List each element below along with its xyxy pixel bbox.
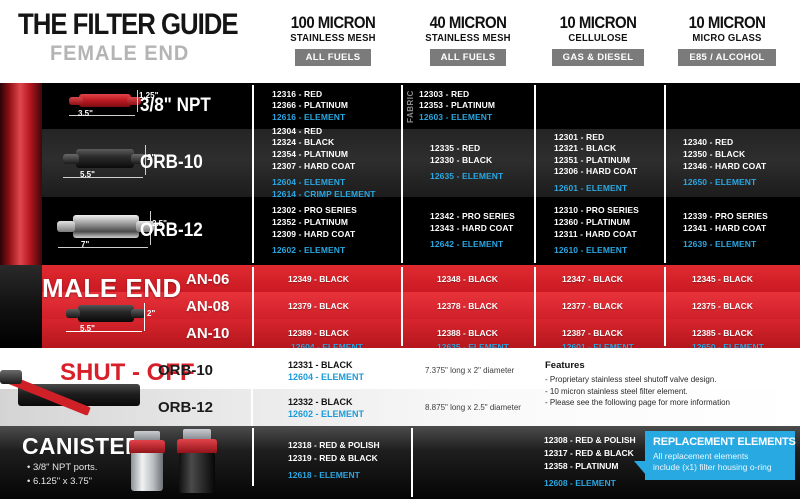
part-number: 12302 - PRO SERIES: [272, 205, 400, 217]
row-label-cell: ORB-10: [140, 129, 252, 197]
part-number: 12379 - BLACK: [288, 301, 349, 311]
part-number: 12345 - BLACK: [692, 274, 753, 284]
part-number: 12358 - PLATINUM: [544, 461, 618, 471]
part-number: 12350 - BLACK: [683, 149, 795, 161]
column-header-sub: MICRO GLASS: [661, 32, 794, 45]
column-divider: [534, 267, 536, 346]
dimension-line: [58, 247, 148, 248]
part-number: 12304 - RED: [272, 126, 400, 138]
part-cell-100-micron: 12304 - RED 12324 - BLACK 12354 - PLATIN…: [272, 129, 400, 197]
column-header-sub: STAINLESS MESH: [267, 32, 400, 45]
part-number: 12388 - BLACK: [437, 328, 498, 338]
shut-off-section: SHUT - OFF ORB-10 12331 - BLACK 12604 - …: [0, 352, 800, 426]
part-number: 12335 - RED: [430, 143, 540, 155]
canister-title: CANISTER: [22, 433, 142, 460]
column-divider: [252, 428, 254, 486]
part-number-element: 12604 - ELEMENT: [288, 372, 364, 382]
part-cell-10-micron-cellulose: 12310 - PRO SERIES 12360 - PLATINUM 1231…: [554, 197, 666, 265]
feature-item: - 10 micron stainless steel filter eleme…: [545, 386, 730, 398]
dimension-text: 8.875" long x 2.5" diameter: [425, 403, 521, 412]
column-header-main: 10 MICRON: [665, 14, 788, 31]
part-number: 12360 - PLATINUM: [554, 217, 666, 229]
part-number: 12375 - BLACK: [692, 301, 753, 311]
row-label-cell: ORB-12: [140, 197, 252, 265]
part-number-element: 12608 - ELEMENT: [544, 478, 616, 488]
features-block: Features - Proprietary stainless steel s…: [545, 360, 730, 409]
part-number: 12316 - RED: [272, 89, 400, 101]
part-number-element: 12618 - ELEMENT: [288, 470, 360, 480]
part-number: 12330 - BLACK: [430, 155, 540, 167]
part-number-element: 12610 - ELEMENT: [554, 245, 666, 257]
part-number: 12308 - RED & POLISH: [544, 435, 636, 445]
part-number: 12346 - HARD COAT: [683, 161, 795, 173]
callout-line2: include (x1) filter housing o-ring: [653, 462, 772, 473]
dimension-line: [63, 177, 143, 178]
shut-off-label-orb12: ORB-12: [158, 399, 213, 416]
part-number-element: 12604 - ELEMENT: [291, 342, 363, 348]
feature-item: - Proprietary stainless steel shutoff va…: [545, 374, 730, 386]
canister-bullet: • 6.125" x 3.75": [27, 476, 92, 487]
filter-guide-page: THE FILTER GUIDE FEMALE END 100 MICRON S…: [0, 0, 800, 499]
part-number-element: 12650 - ELEMENT: [683, 177, 795, 189]
part-number: 12366 - PLATINUM: [272, 100, 400, 112]
dimension-length: 3.5": [78, 109, 93, 118]
part-number: 12343 - HARD COAT: [430, 223, 540, 235]
part-cell-10-micron-micro-glass: 12339 - PRO SERIES 12341 - HARD COAT 126…: [683, 197, 795, 265]
row-orb10: 5.5" 2" ORB-10 12304 - RED 12324 - BLACK…: [0, 129, 800, 197]
callout-line1: All replacement elements: [653, 451, 748, 462]
column-divider: [664, 267, 666, 346]
column-divider: [252, 267, 254, 346]
column-header-main: 10 MICRON: [536, 14, 659, 31]
row-label-cell: 3/8" NPT: [140, 83, 252, 129]
part-number: 12318 - RED & POLISH: [288, 440, 380, 450]
part-number: 12340 - RED: [683, 137, 795, 149]
part-number: 12342 - PRO SERIES: [430, 211, 540, 223]
row-orb12: 7" 2.5" ORB-12 12302 - PRO SERIES 12352 …: [0, 197, 800, 265]
part-number: 12301 - RED: [554, 132, 666, 144]
column-header-40-micron: 40 MICRON STAINLESS MESH ALL FUELS: [398, 14, 538, 66]
dimension-length: 7": [81, 240, 89, 249]
part-number: 12324 - BLACK: [272, 137, 400, 149]
part-number: 12354 - PLATINUM: [272, 149, 400, 161]
part-number: 12307 - HARD COAT: [272, 161, 400, 173]
part-number-element: 12639 - ELEMENT: [683, 239, 795, 251]
part-number-element: 12604 - ELEMENT: [272, 177, 400, 189]
section-subtitle-female-end: FEMALE END: [50, 42, 189, 66]
part-cell-40-micron: 12335 - RED 12330 - BLACK 12635 - ELEMEN…: [430, 129, 540, 197]
column-divider: [411, 428, 413, 497]
feature-item: - Please see the following page for more…: [545, 397, 730, 409]
part-number: 12317 - RED & BLACK: [544, 448, 634, 458]
part-number: 12321 - BLACK: [554, 143, 666, 155]
header: THE FILTER GUIDE FEMALE END 100 MICRON S…: [0, 0, 800, 83]
part-cell-10-micron-micro-glass: 12340 - RED 12350 - BLACK 12346 - HARD C…: [683, 129, 795, 197]
dimension-length: 5.5": [80, 170, 95, 179]
shut-off-label-orb10: ORB-10: [158, 362, 213, 379]
table-row: [0, 319, 800, 348]
female-end-table: 3.5" 1.25" 3/8" NPT 12316 - RED 12366 - …: [0, 83, 800, 265]
part-number: 12310 - PRO SERIES: [554, 205, 666, 217]
part-number: 12347 - BLACK: [562, 274, 623, 284]
part-number-element: 12603 - ELEMENT: [419, 112, 539, 124]
part-number-element: 12650 - ELEMENT: [692, 342, 764, 348]
part-cell-100-micron: 12316 - RED 12366 - PLATINUM 12616 - ELE…: [272, 83, 400, 129]
column-header-badge: E85 / ALCOHOL: [678, 49, 775, 66]
column-divider: [401, 267, 403, 346]
column-divider: [251, 352, 253, 426]
dimension-line: [137, 90, 138, 112]
red-filter-side-image: [0, 83, 42, 265]
part-number: 12378 - BLACK: [437, 301, 498, 311]
dimension-line: [144, 303, 145, 331]
part-number: 12332 - BLACK: [288, 397, 353, 407]
dimension-height: 2": [147, 309, 155, 318]
part-number: 12349 - BLACK: [288, 274, 349, 284]
fabric-label: FABRIC: [406, 91, 415, 123]
part-cell-40-micron: 12342 - PRO SERIES 12343 - HARD COAT 126…: [430, 197, 540, 265]
column-header-10-micron-cellulose: 10 MICRON CELLULOSE GAS & DIESEL: [528, 14, 668, 66]
callout-heading: REPLACEMENT ELEMENTS: [653, 436, 796, 448]
canister-bullet: • 3/8" NPT ports.: [27, 462, 97, 473]
part-number-element: 12635 - ELEMENT: [430, 171, 540, 183]
features-heading: Features: [545, 360, 730, 371]
male-end-section: 5.5" 2" MALE END AN-06 AN-08 AN-10 12349…: [0, 265, 800, 348]
part-number-element: 12601 - ELEMENT: [554, 183, 666, 195]
row-label: ORB-12: [140, 220, 203, 242]
male-end-product-image: [0, 265, 42, 348]
column-header-sub: CELLULOSE: [532, 32, 665, 45]
canister-image-polish: [127, 431, 167, 493]
row-label: 3/8" NPT: [140, 95, 211, 117]
page-title: THE FILTER GUIDE: [18, 8, 238, 42]
part-number: 12339 - PRO SERIES: [683, 211, 795, 223]
part-number: 12303 - RED: [419, 89, 539, 101]
column-header-10-micron-micro-glass: 10 MICRON MICRO GLASS E85 / ALCOHOL: [657, 14, 797, 66]
part-number: 12331 - BLACK: [288, 360, 353, 370]
part-number: 12351 - PLATINUM: [554, 155, 666, 167]
male-end-title: MALE END: [42, 273, 182, 304]
dimension-length: 5.5": [80, 324, 95, 333]
part-number: 12387 - BLACK: [562, 328, 623, 338]
part-number: 12319 - RED & BLACK: [288, 453, 378, 463]
row-npt: 3.5" 1.25" 3/8" NPT 12316 - RED 12366 - …: [0, 83, 800, 129]
part-number: 12341 - HARD COAT: [683, 223, 795, 235]
column-header-badge: GAS & DIESEL: [552, 49, 645, 66]
part-number-element: 12602 - ELEMENT: [272, 245, 400, 257]
column-header-main: 40 MICRON: [406, 14, 529, 31]
part-number-element: 12601 - ELEMENT: [562, 342, 634, 348]
part-number: 12348 - BLACK: [437, 274, 498, 284]
dimension-line: [66, 331, 142, 332]
part-number: 12377 - BLACK: [562, 301, 623, 311]
size-label-an06: AN-06: [186, 271, 229, 288]
size-label-an10: AN-10: [186, 325, 229, 342]
part-number: 12306 - HARD COAT: [554, 166, 666, 178]
column-header-100-micron: 100 MICRON STAINLESS MESH ALL FUELS: [263, 14, 403, 66]
part-cell-100-micron: 12302 - PRO SERIES 12352 - PLATINUM 1230…: [272, 197, 400, 265]
part-number: 12311 - HARD COAT: [554, 229, 666, 241]
part-number: 12389 - BLACK: [288, 328, 349, 338]
row-label: ORB-10: [140, 152, 203, 174]
part-number: 12353 - PLATINUM: [419, 100, 539, 112]
column-header-badge: ALL FUELS: [430, 49, 507, 66]
part-number-element: 12635 - ELEMENT: [437, 342, 509, 348]
part-number-element: 12642 - ELEMENT: [430, 239, 540, 251]
part-number: 12309 - HARD COAT: [272, 229, 400, 241]
part-number-element: 12602 - ELEMENT: [288, 409, 364, 419]
replacement-elements-callout: REPLACEMENT ELEMENTS All replacement ele…: [645, 431, 795, 480]
part-number: 12352 - PLATINUM: [272, 217, 400, 229]
part-number-element: 12616 - ELEMENT: [272, 112, 400, 124]
part-cell-10-micron-cellulose: 12301 - RED 12321 - BLACK 12351 - PLATIN…: [554, 129, 666, 197]
column-header-main: 100 MICRON: [271, 14, 394, 31]
size-label-an08: AN-08: [186, 298, 229, 315]
canister-image-black: [175, 429, 219, 495]
part-cell-40-micron: 12303 - RED 12353 - PLATINUM 12603 - ELE…: [419, 83, 539, 129]
dimension-text: 7.375" long x 2" diameter: [425, 366, 514, 375]
part-number: 12385 - BLACK: [692, 328, 753, 338]
column-header-sub: STAINLESS MESH: [402, 32, 535, 45]
column-header-badge: ALL FUELS: [295, 49, 372, 66]
